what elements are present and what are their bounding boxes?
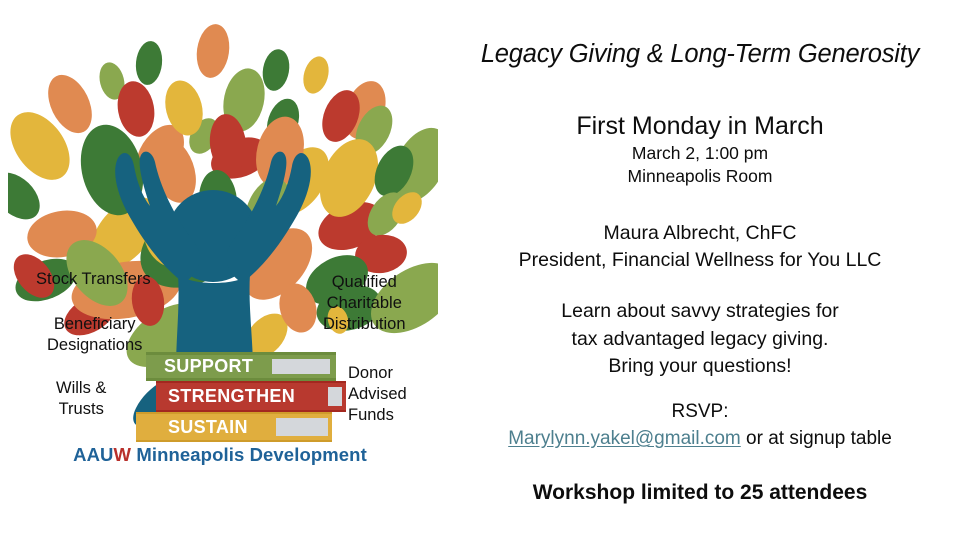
event-when-block: First Monday in March March 2, 1:00 pm M… [440, 110, 960, 188]
rsvp-email-link[interactable]: Marylynn.yakel@gmail.com [508, 428, 741, 449]
book-pages [276, 418, 328, 436]
wordmark-aau: AAU [73, 444, 113, 465]
book-strengthen-label: STRENGTHEN [168, 386, 295, 407]
speaker-block: Maura Albrecht, ChFC President, Financia… [440, 220, 960, 274]
description-line-2: tax advantaged legacy giving. [440, 326, 960, 354]
book-strengthen: STRENGTHEN [156, 381, 346, 412]
event-date-time: March 2, 1:00 pm [440, 142, 960, 165]
rsvp-block: RSVP: Marylynn.yakel@gmail.com or at sig… [440, 399, 960, 453]
description-line-3: Bring your questions! [440, 353, 960, 381]
aauw-wordmark: AAUW Minneapolis Development [0, 444, 440, 466]
label-wills-and-trusts: Wills & Trusts [56, 378, 106, 420]
label-donor-advised-funds: Donor Advised Funds [348, 363, 407, 426]
rsvp-label: RSVP: [440, 399, 960, 426]
wordmark-w: W [114, 444, 132, 465]
capacity-note: Workshop limited to 25 attendees [440, 481, 960, 505]
flyer-slide: Stock Transfers Beneficiary Designations… [0, 0, 960, 540]
flyer-text-column: Legacy Giving & Long-Term Generosity Fir… [440, 0, 960, 540]
description-block: Learn about savvy strategies for tax adv… [440, 298, 960, 381]
flyer-headline: Legacy Giving & Long-Term Generosity [440, 40, 960, 69]
speaker-title: President, Financial Wellness for You LL… [440, 247, 960, 274]
book-pages [272, 359, 330, 374]
wordmark-chapter: Minneapolis Development [131, 444, 367, 465]
book-sustain: SUSTAIN [136, 412, 332, 442]
book-pages [328, 387, 342, 406]
rsvp-contact-line: Marylynn.yakel@gmail.com or at signup ta… [440, 426, 960, 453]
book-support: SUPPORT [146, 352, 336, 381]
speaker-name: Maura Albrecht, ChFC [440, 220, 960, 247]
event-title: First Monday in March [440, 110, 960, 142]
rsvp-suffix-text: or at signup table [741, 428, 892, 449]
book-support-label: SUPPORT [164, 356, 253, 377]
capacity-note-block: Workshop limited to 25 attendees [440, 481, 960, 505]
label-qualified-charitable-distribution: Qualified Charitable Distribution [323, 272, 406, 335]
book-sustain-label: SUSTAIN [168, 417, 248, 438]
book-stack: SUPPORT STRENGTHEN SUSTAIN [132, 352, 354, 442]
aauw-tree-graphic: Stock Transfers Beneficiary Designations… [0, 0, 440, 540]
label-beneficiary-designations: Beneficiary Designations [47, 314, 142, 356]
description-line-1: Learn about savvy strategies for [440, 298, 960, 326]
label-stock-transfers: Stock Transfers [36, 269, 151, 290]
event-location: Minneapolis Room [440, 165, 960, 188]
